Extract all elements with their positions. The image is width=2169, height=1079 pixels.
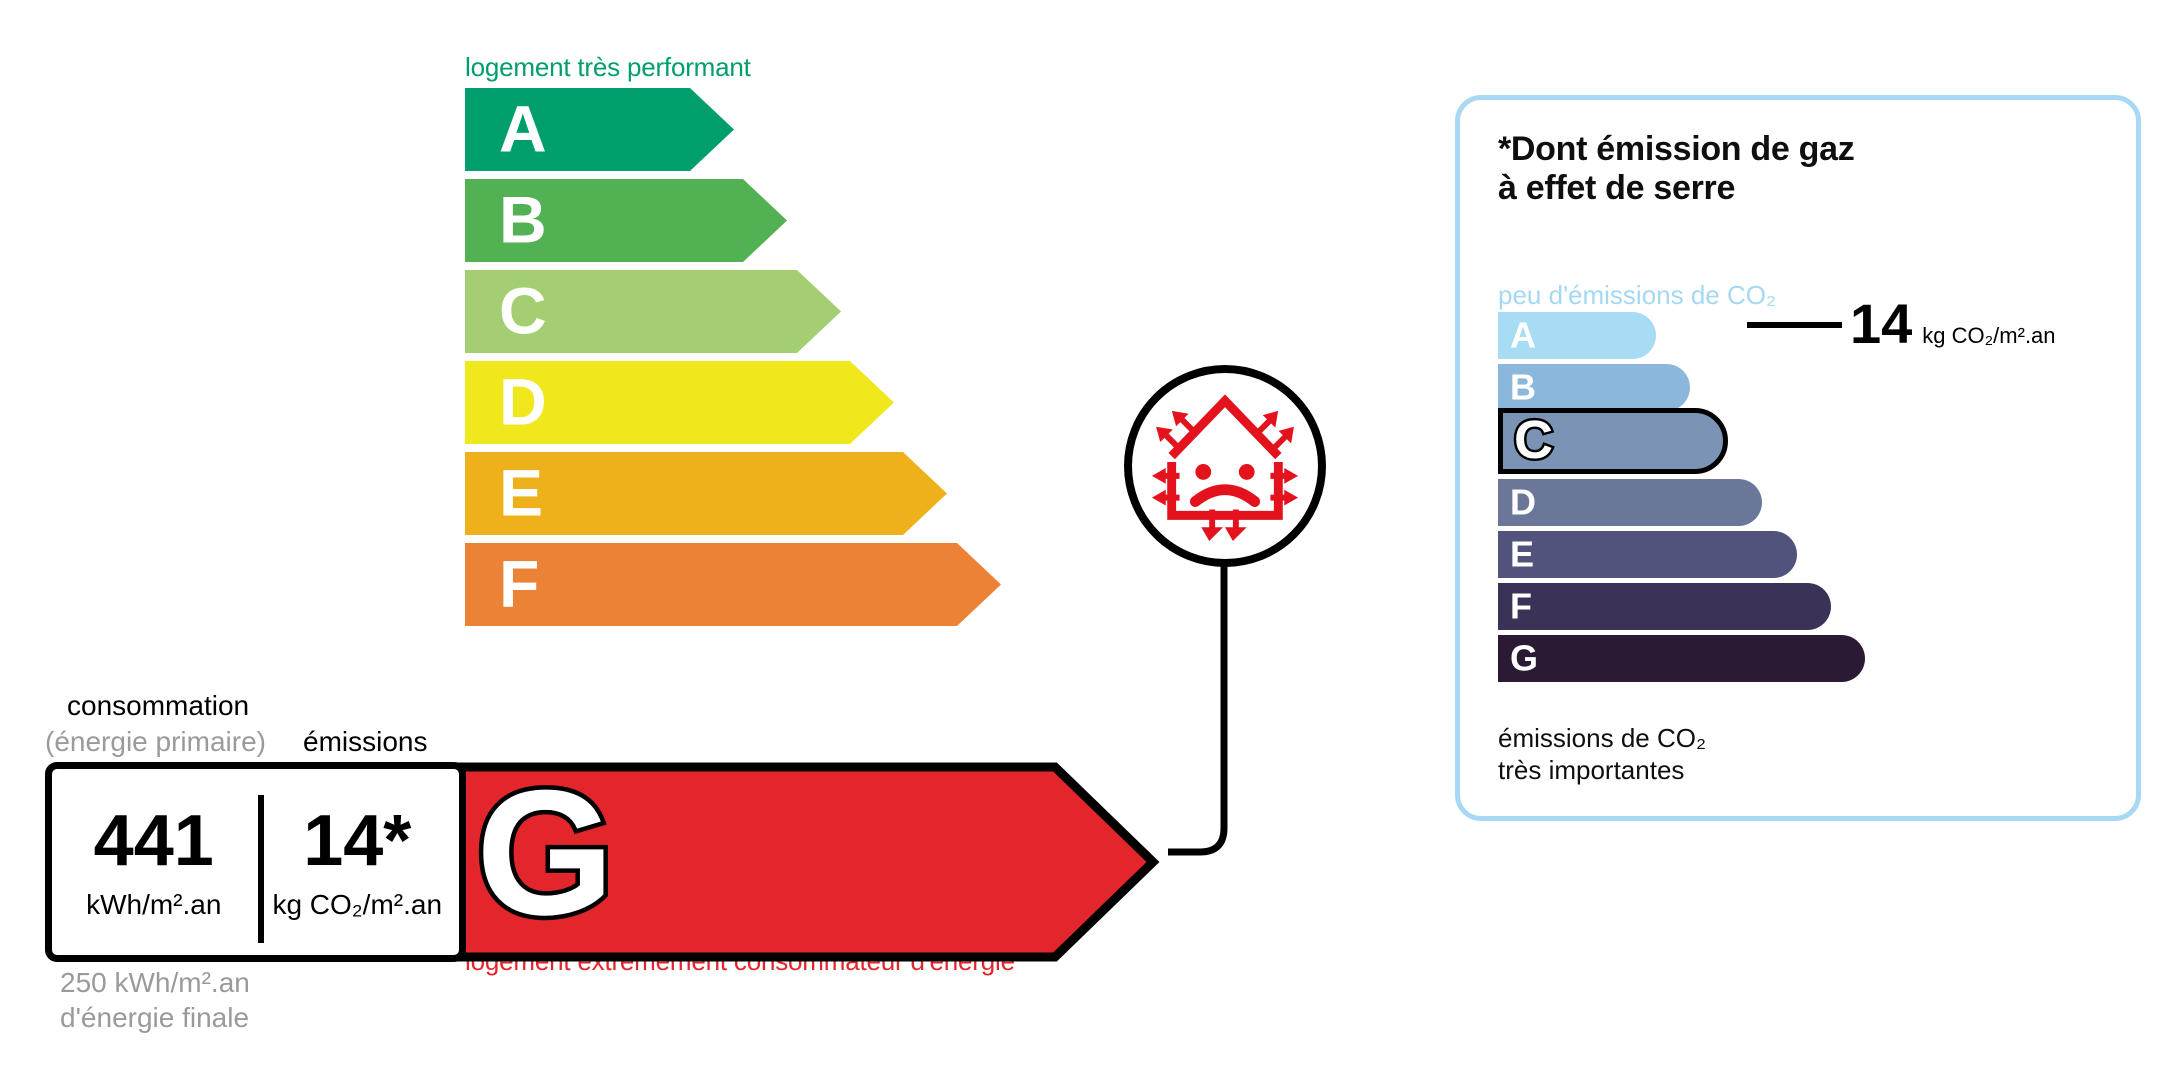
energy-band-c: C xyxy=(465,270,841,353)
energy-unit: kWh/m².an xyxy=(86,891,221,919)
energy-band-a: A xyxy=(465,88,734,171)
result-letter-svg: G xyxy=(470,764,660,944)
result-row: 441 kWh/m².an 14* kg CO₂/m².an G xyxy=(45,762,1165,962)
band-letter-e: E xyxy=(499,459,543,525)
label-consommation-sub: (énergie primaire) xyxy=(45,726,266,758)
final-energy-line1: 250 kWh/m².an xyxy=(60,965,250,1000)
co2-bars-group: ABCDEFG xyxy=(1498,312,2118,712)
co2-bar-fill-g xyxy=(1498,635,1865,682)
co2-bar-g: G xyxy=(1498,635,1865,682)
co2-bar-fill-d xyxy=(1498,479,1762,526)
dpe-label: logement très performant ABCDEF logement… xyxy=(0,0,2169,1079)
co2-bar-letter-d: D xyxy=(1510,484,1536,520)
band-shape-f xyxy=(465,543,1001,626)
co2-top-caption: peu d'émissions de CO₂ xyxy=(1498,280,1776,311)
value-box-labels: consommation (énergie primaire) émission… xyxy=(45,690,1165,760)
band-letter-c: C xyxy=(499,277,547,343)
final-energy-line2: d'énergie finale xyxy=(60,1000,250,1035)
value-readout-box: 441 kWh/m².an 14* kg CO₂/m².an xyxy=(45,762,466,962)
co2-bar-letter-c: C xyxy=(1514,413,1553,467)
energy-band-b: B xyxy=(465,179,787,262)
band-letter-a: A xyxy=(499,95,547,161)
co2-bar-fill-f xyxy=(1498,583,1831,630)
energy-band-d: D xyxy=(465,361,894,444)
label-consommation: consommation xyxy=(67,690,249,722)
ladder-top-caption: logement très performant xyxy=(465,52,751,83)
co2-emissions-panel: *Dont émission de gaz à effet de serre p… xyxy=(1455,95,2141,821)
co2-bar-letter-b: B xyxy=(1510,369,1536,405)
co2-title-line1: *Dont émission de gaz xyxy=(1498,130,1854,169)
co2-bar-letter-f: F xyxy=(1510,588,1532,624)
co2-bar-fill-e xyxy=(1498,531,1797,578)
label-emissions: émissions xyxy=(303,726,427,758)
sad-house-heat-loss-icon xyxy=(1146,385,1304,547)
final-energy-note: 250 kWh/m².an d'énergie finale xyxy=(60,965,250,1035)
energy-class-ladder: logement très performant ABCDEF logement… xyxy=(0,0,1300,1010)
energy-band-e: E xyxy=(465,452,947,535)
heat-loss-badge xyxy=(1124,365,1326,567)
co2-title-line2: à effet de serre xyxy=(1498,169,1854,208)
band-letter-b: B xyxy=(499,186,547,252)
co2-bar-letter-a: A xyxy=(1510,317,1536,353)
co2-value-cell: 14* kg CO₂/m².an xyxy=(256,769,460,955)
co2-bar-letter-e: E xyxy=(1510,536,1534,572)
co2-bottom-line2: très importantes xyxy=(1498,755,1706,787)
co2-bar-d: D xyxy=(1498,479,1762,526)
co2-bottom-line1: émissions de CO₂ xyxy=(1498,723,1706,755)
result-letter-wrap: G xyxy=(470,764,660,949)
band-letter-f: F xyxy=(499,550,539,616)
co2-bar-e: E xyxy=(1498,531,1797,578)
co2-bottom-caption: émissions de CO₂ très importantes xyxy=(1498,723,1706,786)
band-letter-d: D xyxy=(499,368,547,434)
energy-value: 441 xyxy=(94,805,214,877)
co2-bar-c: C xyxy=(1498,408,1728,474)
co2-bar-letter-g: G xyxy=(1510,640,1538,676)
co2-value: 14* xyxy=(303,805,411,877)
co2-unit: kg CO₂/m².an xyxy=(272,891,442,919)
co2-panel-title: *Dont émission de gaz à effet de serre xyxy=(1498,130,1854,209)
badge-connector-line xyxy=(1160,560,1330,860)
svg-text:G: G xyxy=(476,764,614,944)
energy-band-f: F xyxy=(465,543,1001,626)
energy-value-cell: 441 kWh/m².an xyxy=(52,769,256,955)
co2-bar-a: A xyxy=(1498,312,1656,359)
co2-bar-f: F xyxy=(1498,583,1831,630)
co2-bar-b: B xyxy=(1498,364,1690,411)
